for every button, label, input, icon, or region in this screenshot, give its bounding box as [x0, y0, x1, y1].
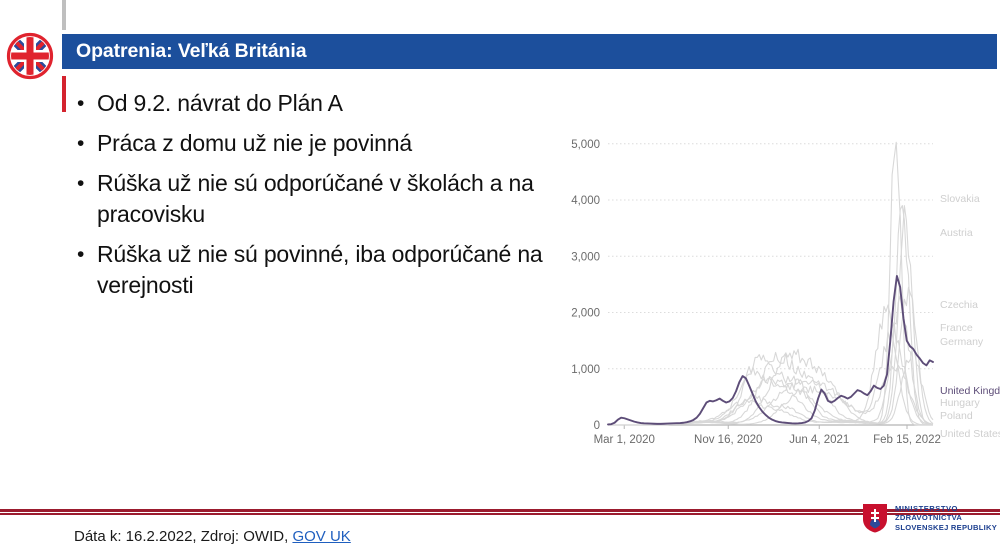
- series-label: United Kingdom: [940, 385, 1000, 397]
- svg-text:3,000: 3,000: [571, 251, 600, 263]
- chart-canvas: 01,0002,0003,0004,0005,000Mar 1, 2020Nov…: [560, 85, 1000, 490]
- ministry-line-1: MINISTERSTVO: [895, 504, 997, 514]
- list-item-label: Rúška už nie sú povinné, iba odporúčané …: [97, 239, 544, 301]
- series-label: Germany: [940, 336, 984, 348]
- bullet-marker-icon: •: [74, 88, 97, 119]
- measures-bullet-list: • Od 9.2. návrat do Plán A • Práca z dom…: [74, 88, 544, 310]
- covid-cases-line-chart: 01,0002,0003,0004,0005,000Mar 1, 2020Nov…: [560, 85, 1000, 490]
- red-accent-bar: [62, 76, 66, 112]
- list-item: • Rúška už nie sú povinné, iba odporúčan…: [74, 239, 544, 301]
- svg-text:Nov 16, 2020: Nov 16, 2020: [694, 434, 762, 446]
- gov-uk-link[interactable]: GOV UK: [292, 528, 350, 545]
- series-label: Czechia: [940, 299, 978, 311]
- svg-text:2,000: 2,000: [571, 308, 600, 320]
- ministry-logo-text: MINISTERSTVO ZDRAVOTNÍCTVA SLOVENSKEJ RE…: [895, 504, 997, 533]
- series-label: United States: [940, 428, 1000, 440]
- list-item-label: Rúška už nie sú odporúčané v školách a n…: [97, 168, 544, 230]
- list-item: • Práca z domu už nie je povinná: [74, 128, 544, 159]
- slide-title-bar: Opatrenia: Veľká Británia: [62, 34, 997, 69]
- svg-text:Jun 4, 2021: Jun 4, 2021: [789, 434, 849, 446]
- ministry-logo: MINISTERSTVO ZDRAVOTNÍCTVA SLOVENSKEJ RE…: [862, 503, 997, 533]
- series-label: Poland: [940, 410, 973, 422]
- svg-text:1,000: 1,000: [571, 364, 600, 376]
- series-label: Slovakia: [940, 193, 980, 205]
- source-note: Dáta k: 16.2.2022, Zdroj: OWID, GOV UK: [74, 528, 351, 545]
- series-label: France: [940, 322, 973, 334]
- bullet-marker-icon: •: [74, 239, 97, 270]
- ministry-line-3: SLOVENSKEJ REPUBLIKY: [895, 523, 997, 533]
- svg-text:5,000: 5,000: [571, 139, 600, 151]
- series-label: Austria: [940, 227, 973, 239]
- top-grey-divider: [62, 0, 66, 30]
- slovak-coat-of-arms-icon: [862, 503, 888, 533]
- svg-text:Feb 15, 2022: Feb 15, 2022: [873, 434, 941, 446]
- list-item-label: Práca z domu už nie je povinná: [97, 128, 412, 159]
- list-item: • Od 9.2. návrat do Plán A: [74, 88, 544, 119]
- footer-divider-inner2: [0, 513, 1000, 515]
- uk-flag-circle-icon: [4, 30, 56, 82]
- page-title: Opatrenia: Veľká Británia: [62, 40, 306, 63]
- bullet-marker-icon: •: [74, 168, 97, 199]
- bullet-marker-icon: •: [74, 128, 97, 159]
- series-label: Hungary: [940, 397, 980, 409]
- list-item-label: Od 9.2. návrat do Plán A: [97, 88, 343, 119]
- source-note-text: Dáta k: 16.2.2022, Zdroj: OWID,: [74, 528, 292, 545]
- svg-text:4,000: 4,000: [571, 195, 600, 207]
- ministry-line-2: ZDRAVOTNÍCTVA: [895, 513, 997, 523]
- list-item: • Rúška už nie sú odporúčané v školách a…: [74, 168, 544, 230]
- svg-text:0: 0: [594, 420, 600, 432]
- svg-text:Mar 1, 2020: Mar 1, 2020: [594, 434, 655, 446]
